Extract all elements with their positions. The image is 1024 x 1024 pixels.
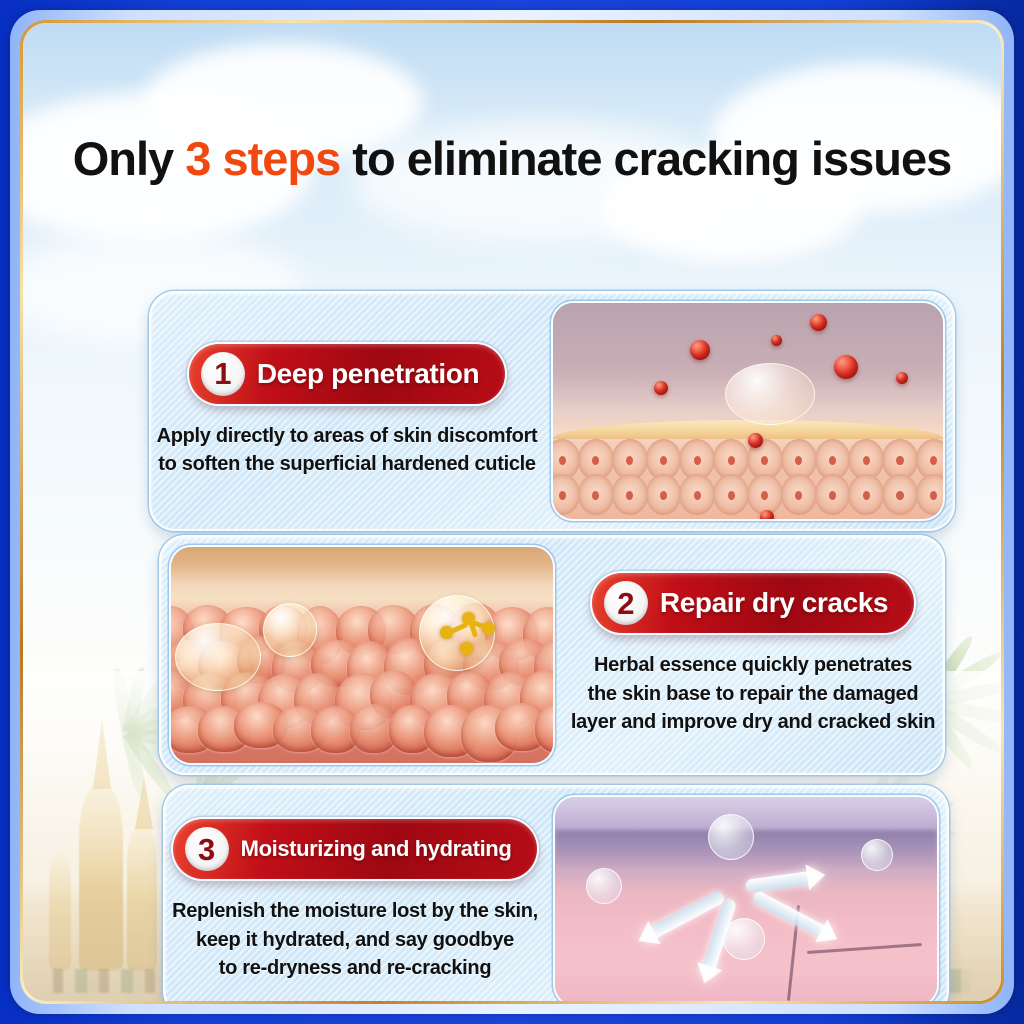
step-3-badge[interactable]: 3 Moisturizing and hydrating <box>173 819 538 879</box>
water-bubble <box>586 868 622 904</box>
title-part-after: to eliminate cracking issues <box>340 132 951 185</box>
description-line: to re-dryness and re-cracking <box>172 954 538 982</box>
step-2-illustration <box>171 547 553 763</box>
step-3-description: Replenish the moisture lost by the skin,… <box>172 897 538 982</box>
essence-droplet <box>748 433 763 448</box>
description-line: to soften the superficial hardened cutic… <box>157 450 538 478</box>
essence-droplet <box>810 314 827 331</box>
step-2-text-block: 2 Repair dry cracks Herbal essence quick… <box>563 537 943 773</box>
essence-droplet <box>896 372 908 384</box>
step-1-text-block: 1 Deep penetration Apply directly to are… <box>151 293 543 529</box>
essence-droplet <box>690 340 710 360</box>
gold-ornate-border: Only 3 steps to eliminate cracking issue… <box>20 20 1004 1004</box>
hydrated-skin-graphic <box>555 797 937 1001</box>
poster-canvas: Only 3 steps to eliminate cracking issue… <box>23 23 1001 1001</box>
description-line: Herbal essence quickly penetrates <box>571 651 935 679</box>
description-line: layer and improve dry and cracked skin <box>571 708 935 736</box>
skin-cells-graphic <box>171 547 553 763</box>
step-1-badge[interactable]: 1 Deep penetration <box>189 344 505 404</box>
cell-row <box>553 474 943 515</box>
step-2-description: Herbal essence quickly penetrates the sk… <box>571 651 935 736</box>
step-2-badge-label: Repair dry cracks <box>660 587 888 619</box>
essence-droplet <box>654 381 668 395</box>
description-line: the skin base to repair the damaged <box>571 680 935 708</box>
step-number-badge: 3 <box>185 827 229 871</box>
description-line: Replenish the moisture lost by the skin, <box>172 897 538 925</box>
step-card-1[interactable]: 1 Deep penetration Apply directly to are… <box>149 291 955 531</box>
description-line: Apply directly to areas of skin discomfo… <box>157 422 538 450</box>
title-part-before: Only <box>73 132 186 185</box>
step-3-text-block: 3 Moisturizing and hydrating Replenish t… <box>165 787 545 1001</box>
step-1-illustration <box>553 303 943 519</box>
moisture-arrow <box>745 871 816 894</box>
essence-droplet <box>834 355 858 379</box>
description-line: keep it hydrated, and say goodbye <box>172 926 538 954</box>
skin-cross-section-graphic <box>553 303 943 519</box>
molecule-icon <box>438 612 498 657</box>
step-1-badge-label: Deep penetration <box>257 358 479 390</box>
step-2-badge[interactable]: 2 Repair dry cracks <box>592 573 914 633</box>
essence-bubble <box>725 363 815 425</box>
step-number-badge: 2 <box>604 581 648 625</box>
step-3-illustration <box>555 797 937 1001</box>
water-bubble <box>708 814 754 860</box>
step-card-2[interactable]: 2 Repair dry cracks Herbal essence quick… <box>159 535 945 775</box>
water-bubble <box>861 839 893 871</box>
poster-root: Only 3 steps to eliminate cracking issue… <box>0 0 1024 1024</box>
essence-droplet <box>771 335 782 346</box>
step-card-3[interactable]: 3 Moisturizing and hydrating Replenish t… <box>163 785 949 1001</box>
essence-bubble <box>175 623 261 691</box>
step-1-description: Apply directly to areas of skin discomfo… <box>157 422 538 479</box>
step-3-badge-label: Moisturizing and hydrating <box>241 836 512 862</box>
essence-bubble <box>263 603 317 657</box>
title-highlight: 3 steps <box>185 132 340 185</box>
essence-droplet <box>760 510 774 519</box>
water-bubble <box>723 918 765 960</box>
page-title: Only 3 steps to eliminate cracking issue… <box>23 131 1001 186</box>
step-number-badge: 1 <box>201 352 245 396</box>
